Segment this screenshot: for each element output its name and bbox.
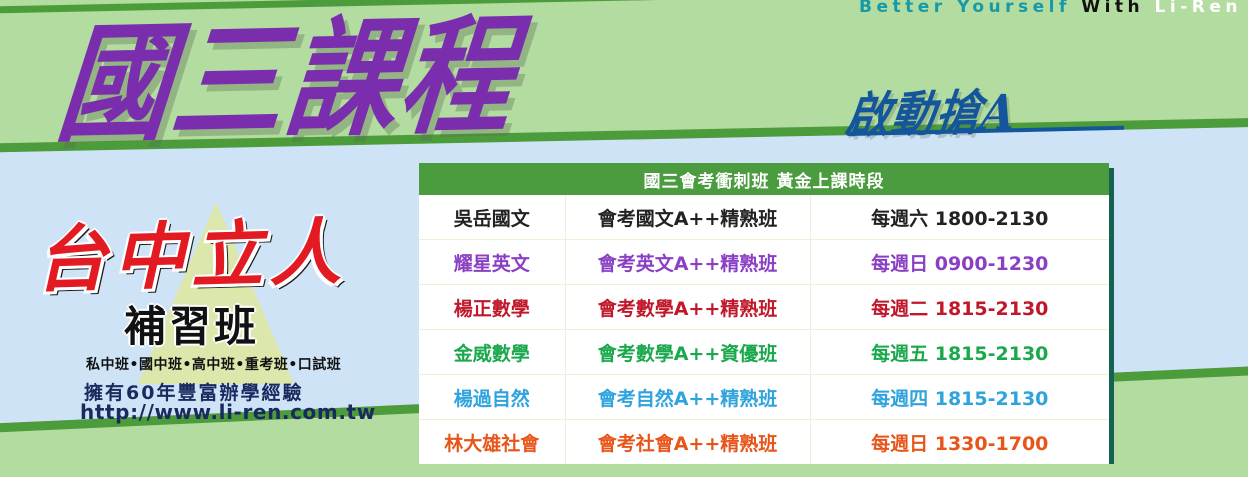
cell-time: 每週日 1330-1700 [810,420,1109,465]
cell-course: 會考數學A++精熟班 [565,285,810,330]
cell-course: 會考社會A++精熟班 [565,420,810,465]
cell-time: 每週日 0900-1230 [810,240,1109,285]
cell-course: 會考英文A++精熟班 [565,240,810,285]
table-row: 楊過自然會考自然A++精熟班每週四 1815-2130 [419,375,1109,420]
promo-banner: Better Yourself With Li-Ren 國三課程 啟動搶A 台中… [0,0,1248,477]
table-row: 楊正數學會考數學A++精熟班每週二 1815-2130 [419,285,1109,330]
logo-program-tags: 私中班•國中班•高中班•重考班•口試班 [86,354,341,374]
cell-course: 會考國文A++精熟班 [565,195,810,240]
cell-time: 每週二 1815-2130 [810,285,1109,330]
table-row: 吳岳國文會考國文A++精熟班每週六 1800-2130 [419,195,1109,240]
page-title: 國三課程 [51,4,521,157]
tagline: Better Yourself With Li-Ren [859,0,1242,17]
cell-time: 每週六 1800-2130 [810,195,1109,240]
tagline-part3: Li-Ren [1155,0,1242,17]
logo-school-type: 補習班 [124,306,259,348]
cell-course: 會考自然A++精熟班 [565,375,810,420]
cell-time: 每週四 1815-2130 [810,375,1109,420]
table-row: 林大雄社會會考社會A++精熟班每週日 1330-1700 [419,420,1109,465]
website-url[interactable]: http://www.li-ren.com.tw [80,400,376,424]
cell-teacher: 耀星英文 [419,240,565,285]
schedule-table: 國三會考衝刺班 黃金上課時段 吳岳國文會考國文A++精熟班每週六 1800-21… [419,163,1109,464]
tagline-part1: Better Yourself [859,0,1071,17]
tagline-part2: With [1081,0,1144,17]
cell-time: 每週五 1815-2130 [810,330,1109,375]
schedule-body: 吳岳國文會考國文A++精熟班每週六 1800-2130耀星英文會考英文A++精熟… [419,195,1109,464]
cell-teacher: 楊過自然 [419,375,565,420]
table-row: 耀星英文會考英文A++精熟班每週日 0900-1230 [419,240,1109,285]
schedule-header-row: 國三會考衝刺班 黃金上課時段 [419,163,1109,195]
schedule-header-title: 國三會考衝刺班 黃金上課時段 [419,163,1109,195]
cell-course: 會考數學A++資優班 [565,330,810,375]
cell-teacher: 楊正數學 [419,285,565,330]
cell-teacher: 金威數學 [419,330,565,375]
cell-teacher: 林大雄社會 [419,420,565,465]
logo-school-name: 台中立人 [34,216,348,296]
cell-teacher: 吳岳國文 [419,195,565,240]
table-row: 金威數學會考數學A++資優班每週五 1815-2130 [419,330,1109,375]
